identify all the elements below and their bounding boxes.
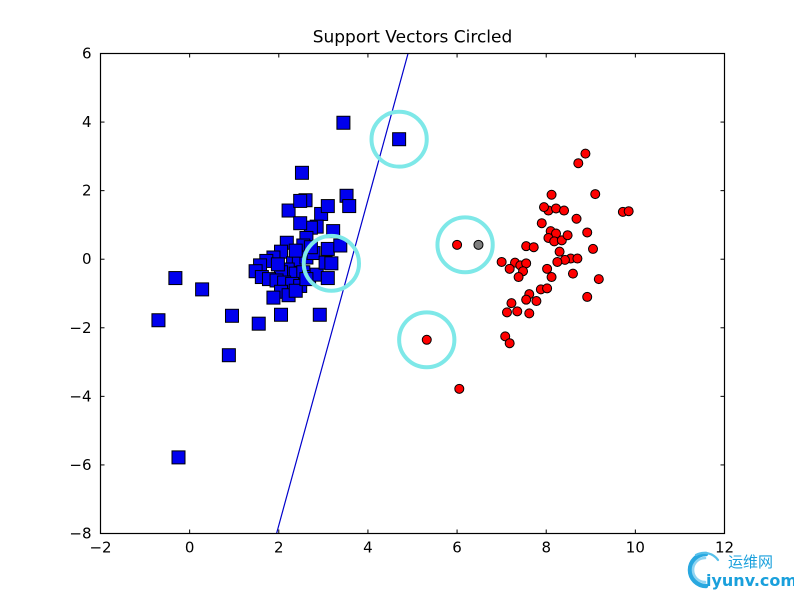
x-tick-label: 0 xyxy=(185,539,195,557)
data-point-circle xyxy=(583,292,592,301)
data-point-circle xyxy=(497,257,506,266)
data-point-square xyxy=(225,309,238,322)
x-tick-label: 10 xyxy=(626,539,645,557)
data-point-circle xyxy=(591,190,600,199)
data-point-square xyxy=(321,200,334,213)
x-tick-label: 6 xyxy=(452,539,462,557)
data-point-circle xyxy=(507,299,516,308)
data-point-circle xyxy=(555,247,564,256)
data-point-square xyxy=(196,283,209,296)
data-point-circle xyxy=(453,240,462,249)
data-point-circle xyxy=(502,308,511,317)
y-tick-label: −4 xyxy=(69,387,91,405)
plot-background xyxy=(101,54,725,534)
data-point-circle xyxy=(505,339,514,348)
data-point-square xyxy=(313,308,326,321)
y-tick-label: 6 xyxy=(82,45,92,63)
y-tick-label: −2 xyxy=(69,319,91,337)
data-point-circle xyxy=(547,273,556,282)
data-point-circle xyxy=(560,206,569,215)
data-point-square xyxy=(321,272,334,285)
data-point-circle xyxy=(573,254,582,263)
data-point-square xyxy=(393,133,406,146)
figure-canvas: −2024681012−8−6−4−20246Support Vectors C… xyxy=(0,0,800,596)
data-point-circle xyxy=(547,190,556,199)
data-point-circle xyxy=(474,240,483,249)
data-point-circle xyxy=(522,295,531,304)
chart-title: Support Vectors Circled xyxy=(313,28,513,48)
data-point-square xyxy=(282,204,295,217)
y-tick-label: −6 xyxy=(69,456,91,474)
data-point-circle xyxy=(537,219,546,228)
data-point-circle xyxy=(568,269,577,278)
data-point-square xyxy=(172,451,185,464)
data-point-square xyxy=(271,258,284,271)
data-point-circle xyxy=(594,275,603,284)
data-point-circle xyxy=(583,228,592,237)
data-point-square xyxy=(152,314,165,327)
y-tick-label: 0 xyxy=(82,250,92,268)
data-point-circle xyxy=(422,335,431,344)
x-tick-label: 12 xyxy=(715,539,734,557)
x-tick-label: 2 xyxy=(274,539,284,557)
data-point-circle xyxy=(539,203,548,212)
data-point-square xyxy=(321,242,334,255)
data-point-square xyxy=(289,244,302,257)
data-point-square xyxy=(337,116,350,129)
x-tick-label: 4 xyxy=(363,539,373,557)
data-point-square xyxy=(294,217,307,230)
data-point-circle xyxy=(572,214,581,223)
data-point-square xyxy=(343,200,356,213)
data-point-circle xyxy=(532,297,541,306)
data-point-circle xyxy=(513,307,522,316)
scatter-plot: −2024681012−8−6−4−20246Support Vectors C… xyxy=(0,0,800,596)
data-point-circle xyxy=(505,264,514,273)
data-point-circle xyxy=(543,264,552,273)
data-point-square xyxy=(169,272,182,285)
data-point-circle xyxy=(624,207,633,216)
series-overlapped-gray-point xyxy=(474,240,483,249)
data-point-circle xyxy=(529,243,538,252)
y-tick-label: 4 xyxy=(82,113,92,131)
data-point-square xyxy=(267,291,280,304)
data-point-square xyxy=(222,349,235,362)
data-point-square xyxy=(275,308,288,321)
x-tick-label: 8 xyxy=(541,539,551,557)
data-point-circle xyxy=(589,244,598,253)
data-point-circle xyxy=(514,273,523,282)
x-tick-label: −2 xyxy=(89,539,111,557)
data-point-square xyxy=(252,317,265,330)
data-point-circle xyxy=(525,309,534,318)
data-point-square xyxy=(289,284,302,297)
data-point-square xyxy=(295,166,308,179)
data-point-circle xyxy=(563,231,572,240)
data-point-circle xyxy=(553,257,562,266)
data-point-circle xyxy=(581,149,590,158)
data-point-circle xyxy=(543,284,552,293)
y-tick-label: −8 xyxy=(69,525,91,543)
data-point-circle xyxy=(455,384,464,393)
data-point-circle xyxy=(574,159,583,168)
data-point-square xyxy=(294,194,307,207)
y-tick-label: 2 xyxy=(82,182,92,200)
data-point-square xyxy=(325,257,338,270)
